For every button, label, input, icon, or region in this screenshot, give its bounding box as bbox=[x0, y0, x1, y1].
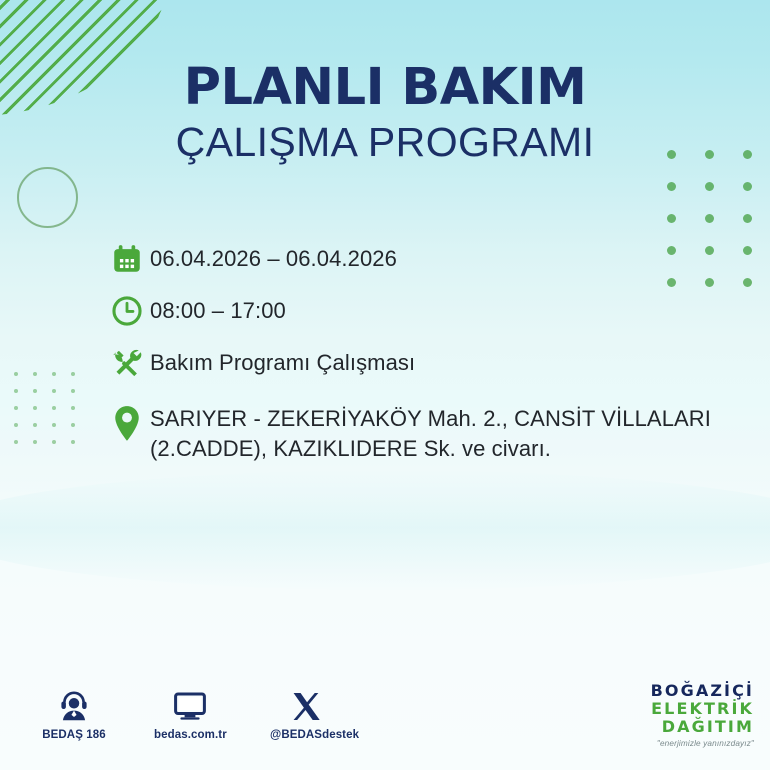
calendar-icon bbox=[104, 240, 150, 276]
website-label: bedas.com.tr bbox=[154, 729, 226, 741]
location-pin-icon bbox=[104, 402, 150, 444]
call-center-label: BEDAŞ 186 bbox=[38, 729, 110, 741]
x-twitter-icon bbox=[270, 686, 342, 726]
contact-website[interactable]: bedas.com.tr bbox=[154, 686, 226, 741]
info-row-address: SARIYER - ZEKERİYAKÖY Mah. 2., CANSİT Vİ… bbox=[104, 402, 764, 463]
page-title: PLANLI BAKIM ÇALIŞMA PROGRAMI bbox=[0, 62, 770, 166]
logo-line-bogazici: BOĞAZİÇİ bbox=[651, 682, 754, 700]
info-row-work-type: Bakım Programı Çalışması bbox=[104, 344, 764, 380]
time-range-text: 08:00 – 17:00 bbox=[150, 292, 286, 326]
wave-band-decoration bbox=[0, 470, 770, 590]
poster: PLANLI BAKIM ÇALIŞMA PROGRAMI 06.04.2026… bbox=[0, 0, 770, 770]
info-row-date: 06.04.2026 – 06.04.2026 bbox=[104, 240, 764, 276]
bedas-logo: BOĞAZİÇİ ELEKTRİK DAĞITIM "enerjimizle y… bbox=[651, 682, 754, 748]
contact-x-account[interactable]: @BEDASdestek bbox=[270, 686, 342, 741]
monitor-icon bbox=[154, 686, 226, 726]
dot-grid-left bbox=[14, 372, 90, 457]
footer: BEDAŞ 186 bedas.com.tr bbox=[0, 686, 770, 758]
logo-tagline: "enerjimizle yanınızdayız" bbox=[651, 739, 754, 748]
info-row-time: 08:00 – 17:00 bbox=[104, 292, 764, 328]
title-line-2: ÇALIŞMA PROGRAMI bbox=[0, 120, 770, 166]
outline-circle-decoration bbox=[17, 167, 78, 228]
logo-line-elektrik: ELEKTRİK bbox=[651, 700, 754, 718]
tools-icon bbox=[104, 344, 150, 380]
headset-agent-icon bbox=[38, 686, 110, 726]
info-list: 06.04.2026 – 06.04.2026 08:00 – 17:00 Ba… bbox=[104, 240, 764, 479]
clock-icon bbox=[104, 292, 150, 328]
date-range-text: 06.04.2026 – 06.04.2026 bbox=[150, 240, 397, 274]
title-line-1: PLANLI BAKIM bbox=[0, 62, 770, 114]
contact-call-center[interactable]: BEDAŞ 186 bbox=[38, 686, 110, 741]
logo-line-dagitim: DAĞITIM bbox=[651, 718, 754, 736]
work-type-text: Bakım Programı Çalışması bbox=[150, 344, 415, 378]
social-links: BEDAŞ 186 bedas.com.tr bbox=[38, 686, 342, 741]
x-account-label: @BEDASdestek bbox=[270, 729, 342, 741]
address-text: SARIYER - ZEKERİYAKÖY Mah. 2., CANSİT Vİ… bbox=[150, 402, 764, 463]
